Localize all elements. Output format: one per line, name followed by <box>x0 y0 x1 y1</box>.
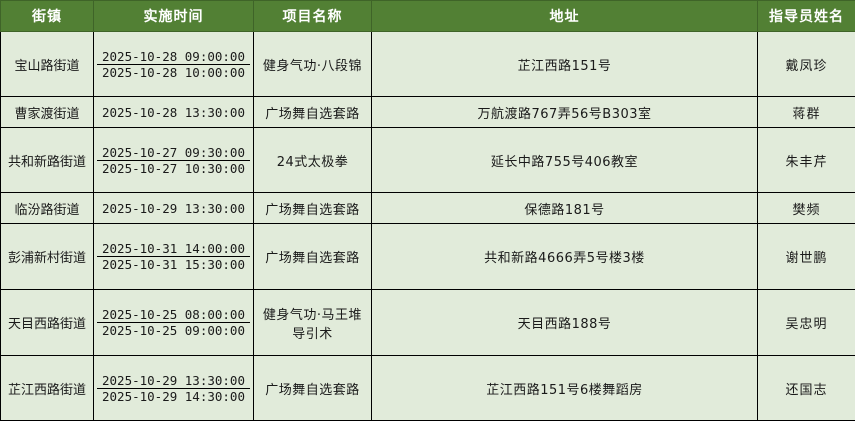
cell-coach: 谢世鹏 <box>758 224 855 290</box>
cell-address: 共和新路4666弄5号楼3楼 <box>372 224 758 290</box>
time-slot-row: 2025-10-25 09:00:00 <box>97 323 250 339</box>
time-slot: 2025-10-29 13:30:00 <box>97 201 250 216</box>
time-slot-row: 2025-10-28 10:00:00 <box>97 64 250 80</box>
time-slot: 2025-10-28 10:00:00 <box>97 64 250 80</box>
cell-program: 广场舞自选套路 <box>254 97 372 128</box>
activity-schedule-table: 街镇 实施时间 项目名称 地址 指导员姓名 宝山路街道2025-10-28 09… <box>0 0 855 421</box>
time-slot-list: 2025-10-25 08:00:002025-10-25 09:00:00 <box>97 307 250 338</box>
time-slot-row: 2025-10-31 14:00:00 <box>97 241 250 257</box>
cell-address: 天目西路188号 <box>372 290 758 356</box>
cell-coach: 吴忠明 <box>758 290 855 356</box>
cell-program: 健身气功·八段锦 <box>254 32 372 97</box>
time-slot: 2025-10-29 14:30:00 <box>97 388 250 404</box>
time-slot-list: 2025-10-29 13:30:002025-10-29 14:30:00 <box>97 373 250 404</box>
cell-program: 广场舞自选套路 <box>254 193 372 224</box>
time-slot-row: 2025-10-29 13:30:00 <box>97 201 250 216</box>
time-slot: 2025-10-25 09:00:00 <box>97 323 250 339</box>
cell-program: 24式太极拳 <box>254 128 372 193</box>
cell-address: 保德路181号 <box>372 193 758 224</box>
cell-address: 万航渡路767弄56号B303室 <box>372 97 758 128</box>
time-slot: 2025-10-31 14:00:00 <box>97 241 250 257</box>
column-header-program: 项目名称 <box>254 1 372 32</box>
time-slot-list: 2025-10-29 13:30:00 <box>97 201 250 216</box>
cell-address: 芷江西路151号6楼舞蹈房 <box>372 356 758 421</box>
table-header: 街镇 实施时间 项目名称 地址 指导员姓名 <box>1 1 855 32</box>
table-body: 宝山路街道2025-10-28 09:00:002025-10-28 10:00… <box>1 32 855 421</box>
time-slot: 2025-10-29 13:30:00 <box>97 373 250 389</box>
cell-time: 2025-10-31 14:00:002025-10-31 15:30:00 <box>94 224 254 290</box>
time-slot-list: 2025-10-28 09:00:002025-10-28 10:00:00 <box>97 49 250 80</box>
cell-time: 2025-10-27 09:30:002025-10-27 10:30:00 <box>94 128 254 193</box>
time-slot-row: 2025-10-25 08:00:00 <box>97 307 250 323</box>
cell-street: 临汾路街道 <box>1 193 94 224</box>
cell-time: 2025-10-28 13:30:00 <box>94 97 254 128</box>
time-slot-row: 2025-10-27 09:30:00 <box>97 145 250 161</box>
time-slot-list: 2025-10-28 13:30:00 <box>97 105 250 120</box>
cell-address: 芷江西路151号 <box>372 32 758 97</box>
cell-street: 曹家渡街道 <box>1 97 94 128</box>
cell-street: 宝山路街道 <box>1 32 94 97</box>
column-header-address: 地址 <box>372 1 758 32</box>
cell-coach: 还国志 <box>758 356 855 421</box>
table-row: 共和新路街道2025-10-27 09:30:002025-10-27 10:3… <box>1 128 855 193</box>
table-row: 彭浦新村街道2025-10-31 14:00:002025-10-31 15:3… <box>1 224 855 290</box>
cell-address: 延长中路755号406教室 <box>372 128 758 193</box>
time-slot: 2025-10-28 13:30:00 <box>97 105 250 120</box>
table-row: 曹家渡街道2025-10-28 13:30:00广场舞自选套路万航渡路767弄5… <box>1 97 855 128</box>
table-row: 天目西路街道2025-10-25 08:00:002025-10-25 09:0… <box>1 290 855 356</box>
time-slot-list: 2025-10-27 09:30:002025-10-27 10:30:00 <box>97 145 250 176</box>
cell-program: 广场舞自选套路 <box>254 224 372 290</box>
cell-time: 2025-10-29 13:30:00 <box>94 193 254 224</box>
cell-time: 2025-10-28 09:00:002025-10-28 10:00:00 <box>94 32 254 97</box>
cell-street: 彭浦新村街道 <box>1 224 94 290</box>
cell-street: 共和新路街道 <box>1 128 94 193</box>
column-header-time: 实施时间 <box>94 1 254 32</box>
cell-time: 2025-10-29 13:30:002025-10-29 14:30:00 <box>94 356 254 421</box>
time-slot-row: 2025-10-31 15:30:00 <box>97 257 250 273</box>
time-slot: 2025-10-25 08:00:00 <box>97 307 250 323</box>
column-header-street: 街镇 <box>1 1 94 32</box>
cell-time: 2025-10-25 08:00:002025-10-25 09:00:00 <box>94 290 254 356</box>
time-slot-row: 2025-10-28 13:30:00 <box>97 105 250 120</box>
time-slot-list: 2025-10-31 14:00:002025-10-31 15:30:00 <box>97 241 250 272</box>
cell-street: 芷江西路街道 <box>1 356 94 421</box>
time-slot-row: 2025-10-27 10:30:00 <box>97 160 250 176</box>
cell-program: 广场舞自选套路 <box>254 356 372 421</box>
time-slot: 2025-10-27 09:30:00 <box>97 145 250 161</box>
column-header-coach: 指导员姓名 <box>758 1 855 32</box>
time-slot-row: 2025-10-29 13:30:00 <box>97 373 250 389</box>
header-row: 街镇 实施时间 项目名称 地址 指导员姓名 <box>1 1 855 32</box>
time-slot: 2025-10-31 15:30:00 <box>97 257 250 273</box>
cell-coach: 蒋群 <box>758 97 855 128</box>
time-slot: 2025-10-27 10:30:00 <box>97 160 250 176</box>
table-row: 芷江西路街道2025-10-29 13:30:002025-10-29 14:3… <box>1 356 855 421</box>
cell-street: 天目西路街道 <box>1 290 94 356</box>
cell-program: 健身气功·马王堆导引术 <box>254 290 372 356</box>
table-row: 宝山路街道2025-10-28 09:00:002025-10-28 10:00… <box>1 32 855 97</box>
table-row: 临汾路街道2025-10-29 13:30:00广场舞自选套路保德路181号樊频 <box>1 193 855 224</box>
cell-coach: 朱丰芹 <box>758 128 855 193</box>
cell-coach: 樊频 <box>758 193 855 224</box>
time-slot: 2025-10-28 09:00:00 <box>97 49 250 65</box>
cell-coach: 戴凤珍 <box>758 32 855 97</box>
time-slot-row: 2025-10-28 09:00:00 <box>97 49 250 65</box>
time-slot-row: 2025-10-29 14:30:00 <box>97 388 250 404</box>
